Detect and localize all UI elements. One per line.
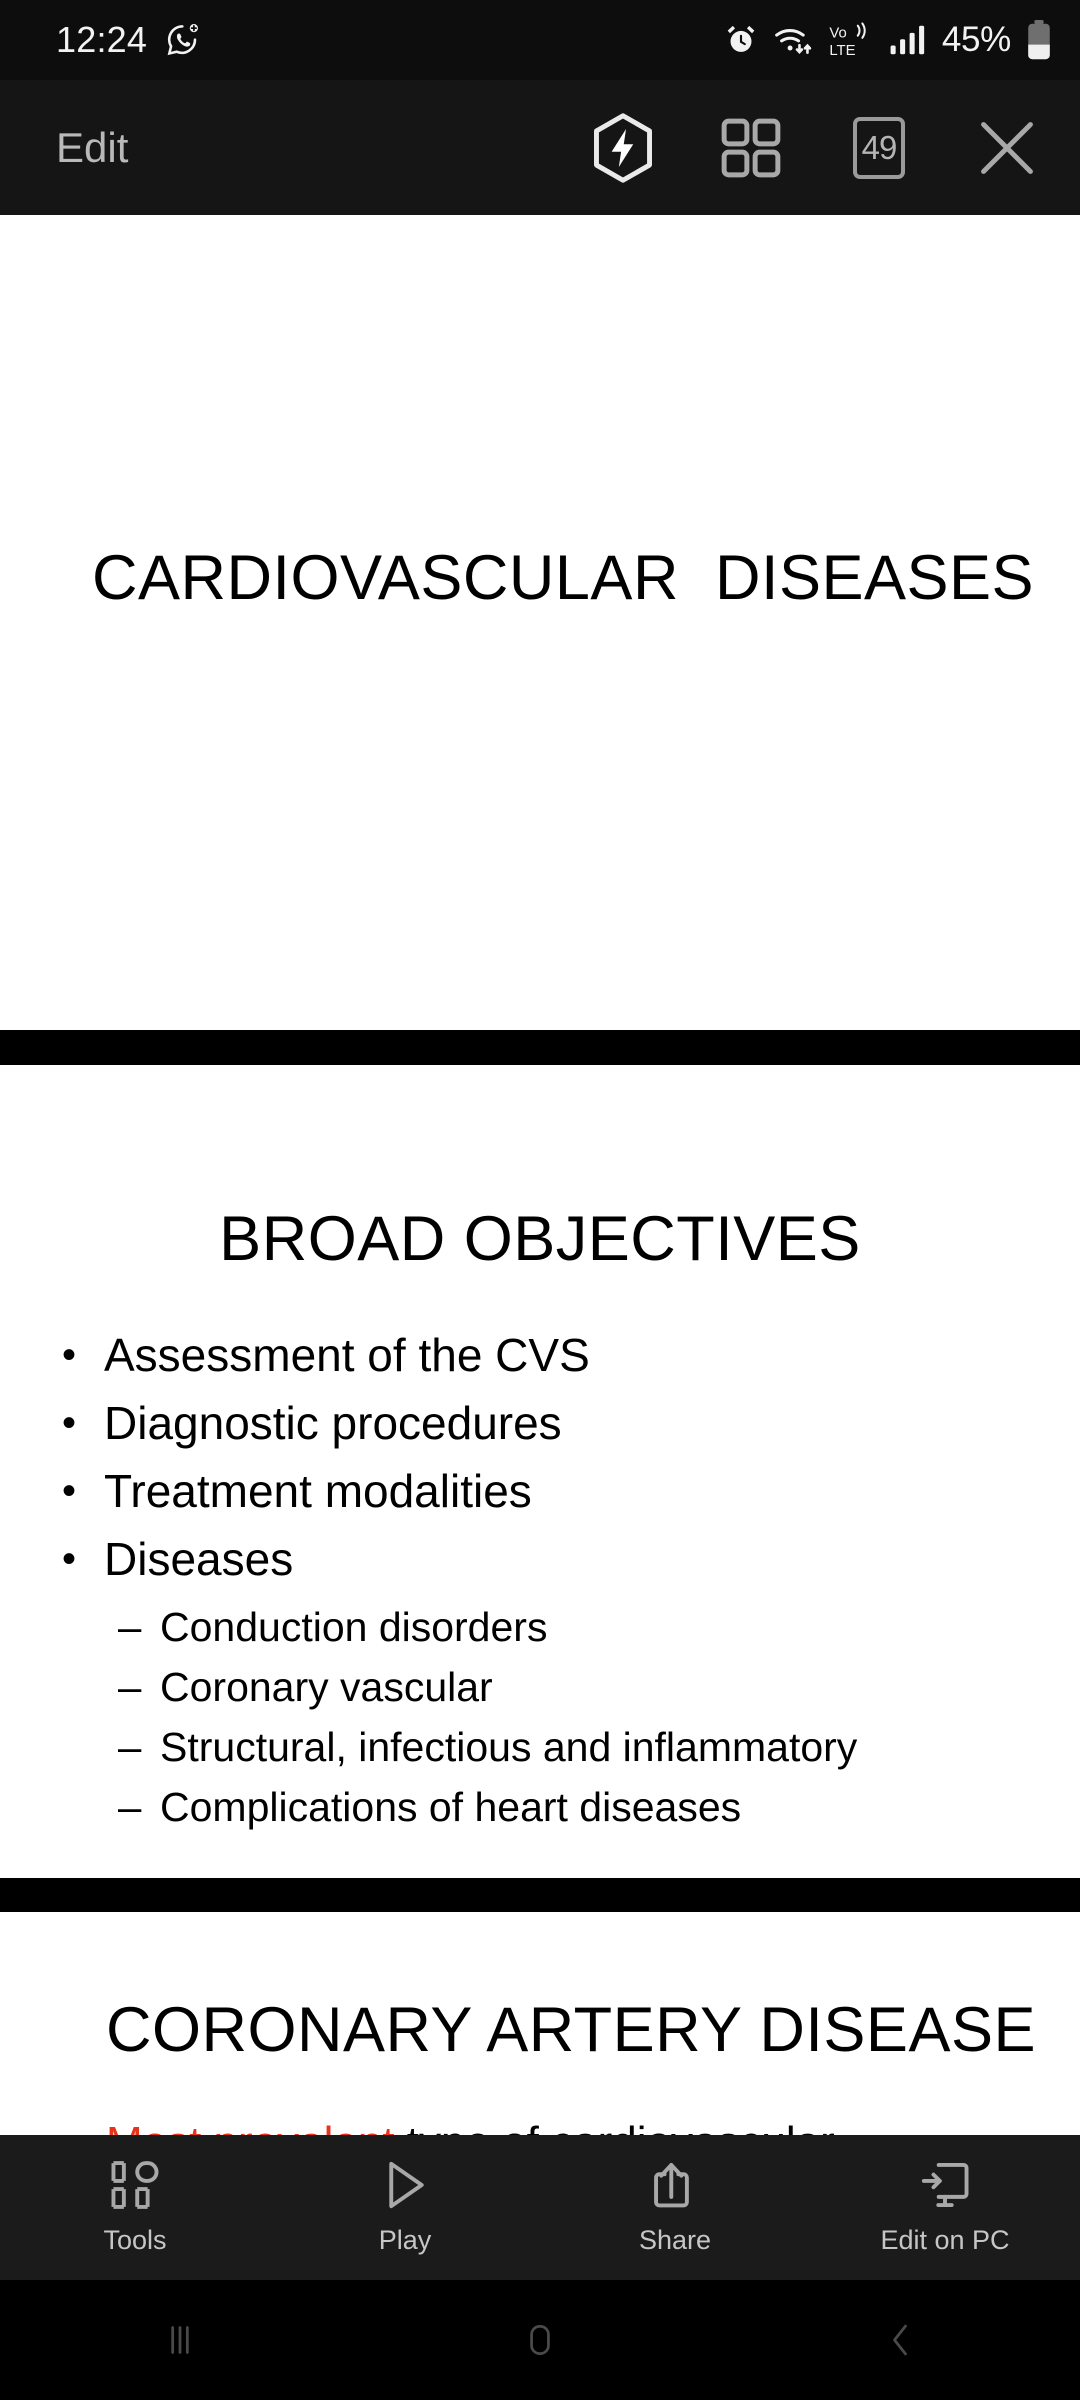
nav-home-button[interactable] [360,2318,720,2362]
nav-recents-button[interactable] [0,2318,360,2362]
sub-bullet-marker: – [118,1777,160,1837]
list-item: – Coronary vascular [118,1657,1080,1717]
play-triangle-icon [379,2159,431,2211]
bullet-marker: • [62,1457,104,1525]
bullet-marker: • [62,1389,104,1457]
bullet-text: Treatment modalities [104,1457,532,1525]
share-arrow-icon [649,2159,701,2211]
slide-2[interactable]: BROAD OBJECTIVES • Assessment of the CVS… [0,1065,1080,1878]
bottom-bar-item-edit-on-pc[interactable]: Edit on PC [810,2159,1080,2256]
slide-scroll-view[interactable]: CARDIOVASCULAR DISEASES BROAD OBJECTIVES… [0,215,1080,2135]
bottom-bar-label: Play [379,2225,432,2256]
phone-screen: 12:24 [0,0,1080,2400]
sub-bullet-marker: – [118,1717,160,1777]
sub-bullet-marker: – [118,1597,160,1657]
signal-icon [889,24,927,56]
list-item: • Assessment of the CVS [62,1321,1080,1389]
list-item: – Conduction disorders [118,1597,1080,1657]
slide-2-sub-bullet-list: – Conduction disorders – Coronary vascul… [62,1597,1080,1837]
sub-bullet-text: Coronary vascular [160,1657,493,1717]
slide-3[interactable]: CORONARY ARTERY DISEASE Most prevalent t… [0,1912,1080,2135]
volte-icon: Vo LTE [828,22,874,58]
lightning-hexagon-icon[interactable] [586,111,660,185]
bullet-text: Diseases [104,1525,293,1593]
alarm-icon [724,23,758,57]
sub-bullet-text: Conduction disorders [160,1597,547,1657]
slide-separator-2 [0,1878,1080,1912]
bottom-bar-item-tools[interactable]: Tools [0,2159,270,2256]
home-square-icon [518,2318,562,2362]
bottom-bar-item-share[interactable]: Share [540,2159,810,2256]
status-bar-right: Vo LTE 45% [724,20,1052,60]
slide-3-body-highlight: Most prevalent [106,2118,395,2135]
svg-text:Vo: Vo [829,25,846,41]
tab-count-icon[interactable]: 49 [842,111,916,185]
page-title: Edit [56,124,128,172]
close-icon[interactable] [970,111,1044,185]
slide-3-body-line: Most prevalent type of cardiovascular [0,2066,1080,2135]
list-item: • Diseases [62,1525,1080,1593]
nav-back-button[interactable] [720,2318,1080,2362]
bullet-text: Assessment of the CVS [104,1321,590,1389]
list-item: • Treatment modalities [62,1457,1080,1525]
battery-icon [1026,20,1052,60]
tab-count-value: 49 [853,117,905,179]
slide-3-title: CORONARY ARTERY DISEASE [0,1912,1080,2066]
list-item: – Complications of heart diseases [118,1777,1080,1837]
bottom-action-bar: Tools Play Share [0,2135,1080,2280]
bullet-marker: • [62,1525,104,1593]
recents-bars-icon [158,2318,202,2362]
tools-grid-icon [109,2159,161,2211]
svg-text:LTE: LTE [829,43,855,58]
bottom-bar-item-play[interactable]: Play [270,2159,540,2256]
bottom-bar-label: Edit on PC [880,2225,1009,2256]
app-toolbar: Edit 49 [0,80,1080,215]
bottom-bar-label: Tools [103,2225,166,2256]
slide-3-body-rest: type of cardiovascular [395,2118,835,2135]
toolbar-actions: 49 [586,111,1044,185]
grid-view-icon[interactable] [714,111,788,185]
status-bar-left: 12:24 [56,19,201,61]
battery-percent: 45% [942,20,1011,60]
sub-bullet-text: Complications of heart diseases [160,1777,741,1837]
slide-1-title: CARDIOVASCULAR DISEASES [0,542,1080,614]
slide-2-title: BROAD OBJECTIVES [0,1065,1080,1275]
slide-2-bullet-list: • Assessment of the CVS • Diagnostic pro… [0,1321,1080,1837]
bullet-text: Diagnostic procedures [104,1389,562,1457]
list-item: – Structural, infectious and inflammator… [118,1717,1080,1777]
android-nav-bar [0,2280,1080,2400]
slide-1[interactable]: CARDIOVASCULAR DISEASES [0,215,1080,1030]
wifi-icon [773,23,813,57]
whatsapp-add-icon [163,21,201,59]
edit-on-pc-monitor-icon [919,2159,971,2211]
sub-bullet-text: Structural, infectious and inflammatory [160,1717,857,1777]
status-time: 12:24 [56,19,147,61]
sub-bullet-marker: – [118,1657,160,1717]
slide-separator-1 [0,1030,1080,1065]
status-bar: 12:24 [0,0,1080,80]
back-chevron-icon [878,2318,922,2362]
list-item: • Diagnostic procedures [62,1389,1080,1457]
bottom-bar-label: Share [639,2225,711,2256]
bullet-marker: • [62,1321,104,1389]
